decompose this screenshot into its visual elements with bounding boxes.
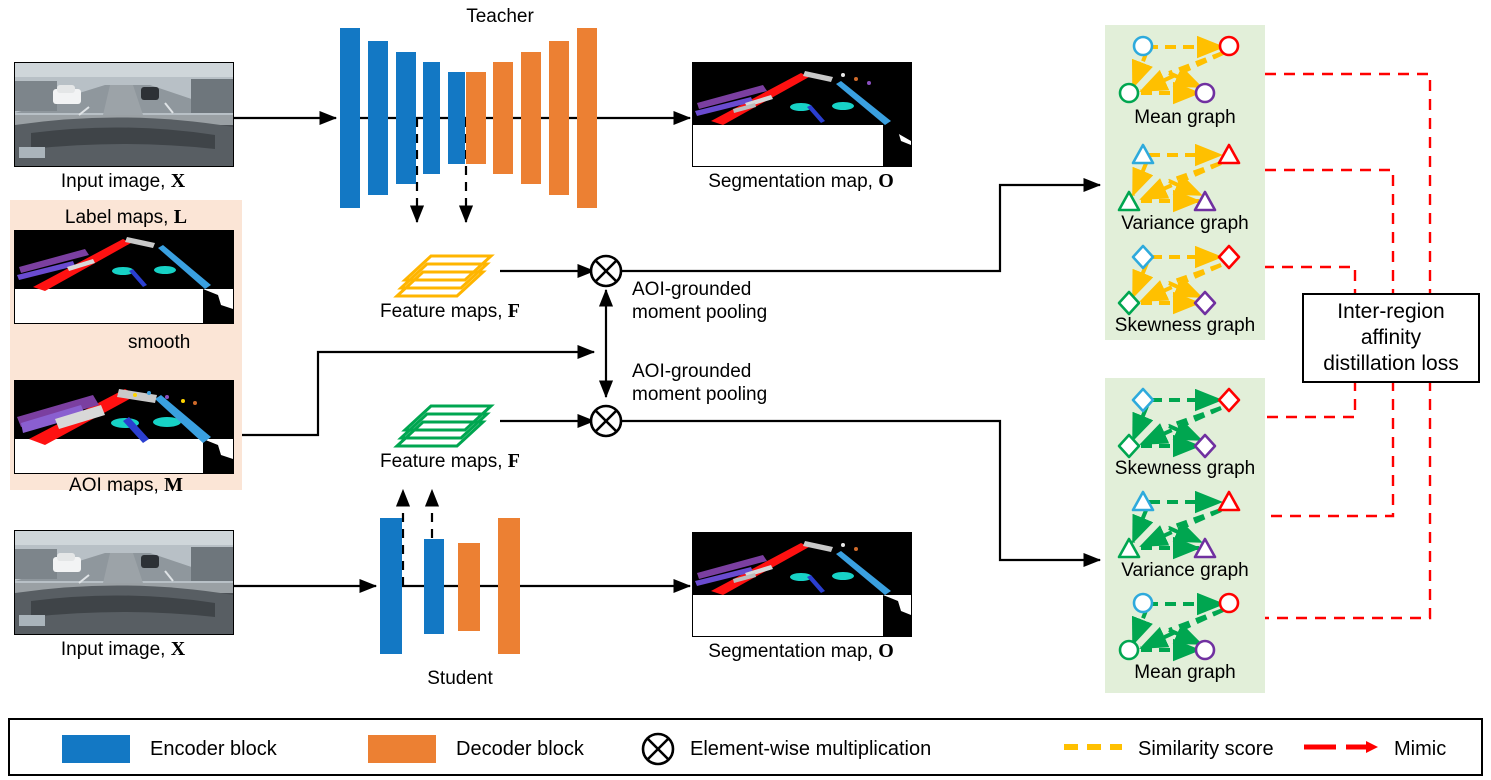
pooling-label-top: AOI-grounded moment pooling bbox=[632, 278, 782, 324]
teacher-encoder-block-5 bbox=[448, 72, 465, 164]
aoi-maps-image bbox=[14, 380, 234, 474]
smooth-label: smooth bbox=[128, 332, 248, 354]
legend-elementwise-label: Element-wise multiplication bbox=[690, 738, 931, 761]
legend-mimic-icon bbox=[1302, 740, 1380, 754]
teacher-feature-caption: Feature maps, F bbox=[350, 300, 550, 323]
aoi-maps-caption: AOI maps, M bbox=[10, 474, 242, 497]
teacher-encoder-block-1 bbox=[340, 28, 360, 208]
loss-line-1: Inter-region bbox=[1337, 300, 1444, 323]
student-input-caption-text: Input image, bbox=[61, 639, 171, 660]
teacher-input-image bbox=[14, 62, 234, 167]
loss-line-2: affinity bbox=[1361, 326, 1421, 349]
student-label: Student bbox=[390, 668, 530, 690]
legend-similarity-icon bbox=[1062, 742, 1124, 752]
teacher-decoder-block-4 bbox=[549, 41, 569, 195]
legend-similarity-label: Similarity score bbox=[1138, 738, 1274, 761]
teacher-graph-mean-label: Mean graph bbox=[1105, 107, 1265, 129]
pooling-label-bottom: AOI-grounded moment pooling bbox=[632, 360, 782, 406]
teacher-decoder-block-2 bbox=[493, 62, 513, 174]
student-feature-caption-text: Feature maps, bbox=[380, 451, 508, 472]
student-encoder-block-2 bbox=[424, 539, 444, 634]
student-decoder-block-1 bbox=[458, 543, 480, 631]
loss-line-3: distillation loss bbox=[1323, 352, 1458, 375]
teacher-output-symbol: O bbox=[878, 170, 894, 192]
teacher-input-caption-text: Input image, bbox=[61, 171, 171, 192]
teacher-decoder-block-3 bbox=[521, 52, 541, 184]
teacher-graph-variance-label: Variance graph bbox=[1105, 213, 1265, 235]
student-input-caption: Input image, X bbox=[14, 638, 232, 661]
legend-encoder-swatch bbox=[62, 735, 130, 763]
teacher-encoder-block-2 bbox=[368, 41, 388, 195]
student-graph-mean-label: Mean graph bbox=[1105, 662, 1265, 684]
teacher-output-caption: Segmentation map, O bbox=[672, 170, 930, 193]
student-segmentation-map bbox=[692, 532, 912, 637]
teacher-graph-skewness-label: Skewness graph bbox=[1105, 315, 1265, 337]
inter-region-affinity-loss-box: Inter-region affinity distillation loss bbox=[1302, 293, 1480, 383]
legend-mimic-label: Mimic bbox=[1394, 738, 1446, 761]
teacher-encoder-block-3 bbox=[396, 52, 416, 184]
legend-elementwise-icon bbox=[640, 731, 676, 767]
student-input-symbol: X bbox=[171, 638, 185, 660]
aoi-maps-symbol: M bbox=[164, 474, 183, 496]
elementwise-multiply-bottom bbox=[588, 403, 624, 439]
student-graph-skewness-label: Skewness graph bbox=[1105, 458, 1265, 480]
teacher-label: Teacher bbox=[400, 6, 600, 28]
label-maps-symbol: L bbox=[174, 206, 187, 228]
student-decoder-block-2 bbox=[498, 518, 520, 654]
elementwise-multiply-top bbox=[588, 253, 624, 289]
teacher-decoder-block-5 bbox=[577, 28, 597, 208]
legend-encoder-label: Encoder block bbox=[150, 738, 277, 761]
teacher-feature-maps-icon bbox=[395, 232, 505, 302]
teacher-output-caption-text: Segmentation map, bbox=[708, 171, 878, 192]
student-output-caption-text: Segmentation map, bbox=[708, 641, 878, 662]
legend-decoder-swatch bbox=[368, 735, 436, 763]
student-encoder-block-1 bbox=[380, 518, 402, 654]
student-graph-variance-label: Variance graph bbox=[1105, 560, 1265, 582]
teacher-input-symbol: X bbox=[171, 170, 185, 192]
label-maps-caption-text: Label maps, bbox=[65, 207, 174, 228]
teacher-encoder-block-4 bbox=[423, 62, 440, 174]
student-feature-caption: Feature maps, F bbox=[350, 450, 550, 473]
student-input-image bbox=[14, 530, 234, 635]
teacher-decoder-block-1 bbox=[466, 72, 486, 164]
student-output-caption: Segmentation map, O bbox=[672, 640, 930, 663]
teacher-input-caption: Input image, X bbox=[14, 170, 232, 193]
aoi-maps-caption-text: AOI maps, bbox=[69, 475, 164, 496]
teacher-segmentation-map bbox=[692, 62, 912, 167]
student-feature-maps-icon bbox=[395, 382, 505, 452]
teacher-feature-caption-text: Feature maps, bbox=[380, 301, 508, 322]
label-maps-image bbox=[14, 230, 234, 324]
student-output-symbol: O bbox=[878, 640, 894, 662]
student-feature-symbol: F bbox=[508, 450, 520, 472]
label-maps-caption: Label maps, L bbox=[10, 206, 242, 229]
legend-decoder-label: Decoder block bbox=[456, 738, 584, 761]
legend-box: Encoder block Decoder block Element-wise… bbox=[8, 718, 1483, 776]
teacher-feature-symbol: F bbox=[508, 300, 520, 322]
teacher-label-wrap: Teacher bbox=[400, 6, 600, 28]
